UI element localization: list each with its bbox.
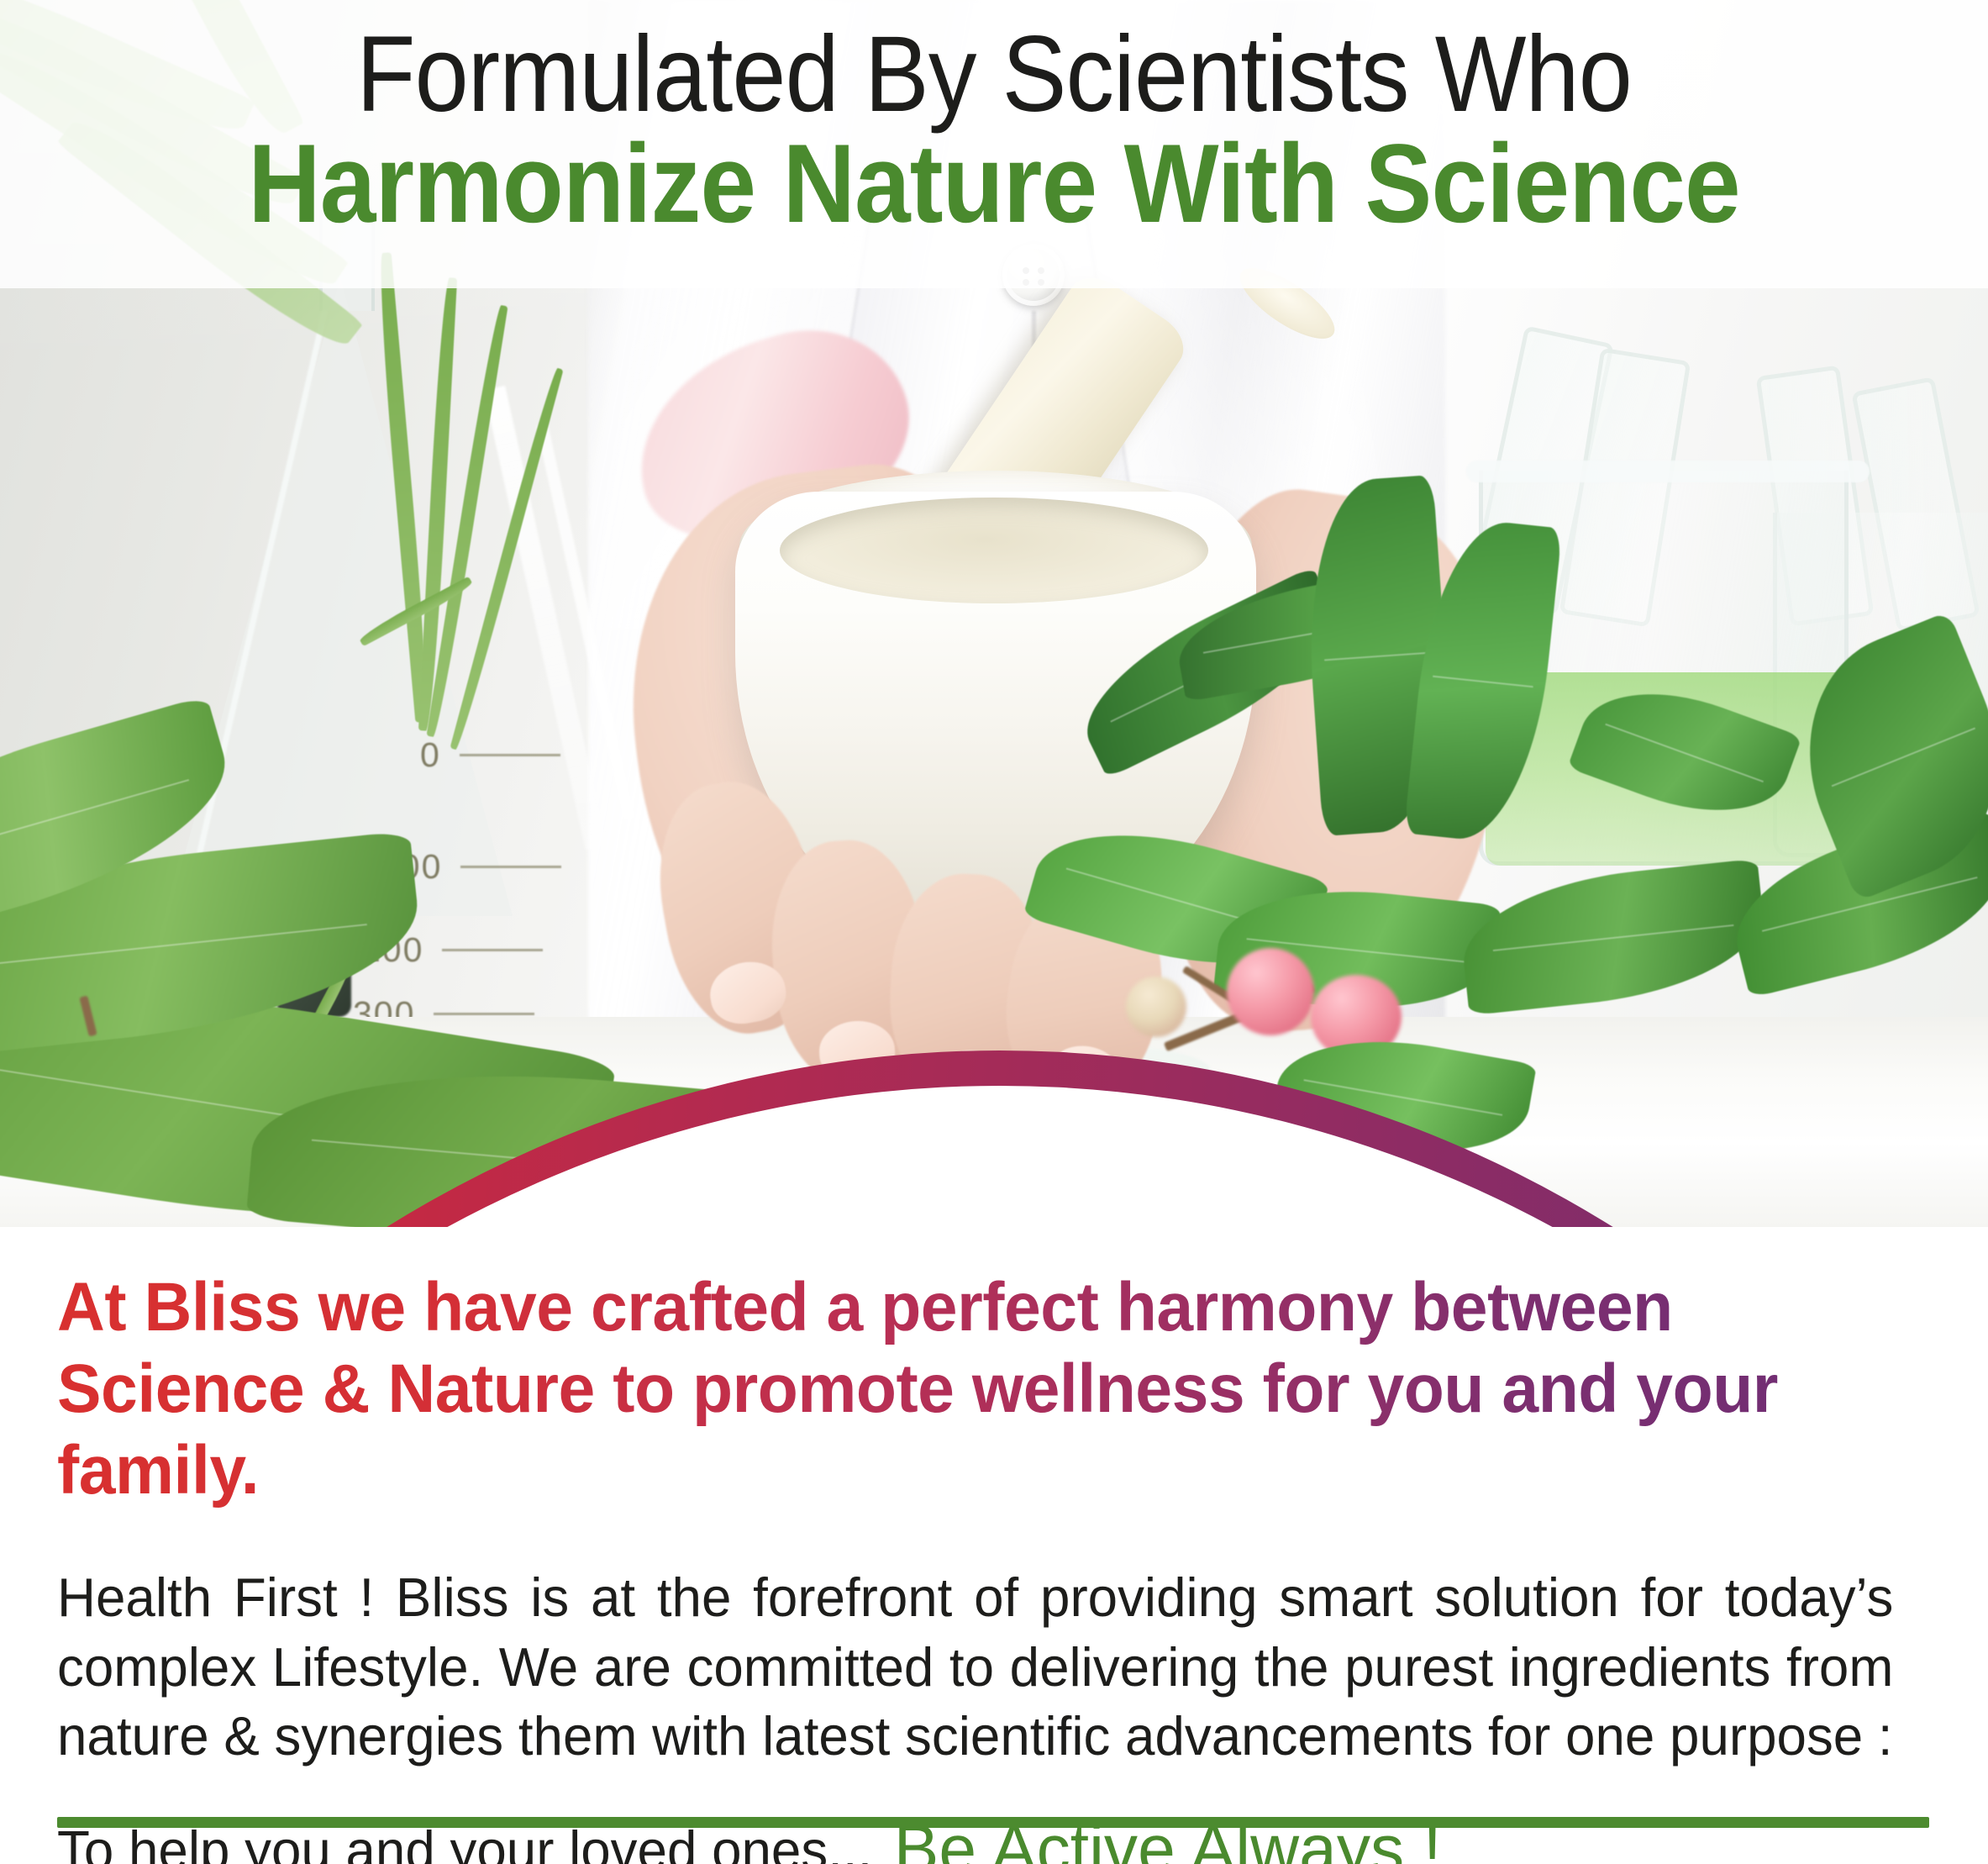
flask-graduation-0-label: 0 xyxy=(420,735,441,774)
berry xyxy=(1126,977,1186,1037)
content-headline: At Bliss we have crafted a perfect harmo… xyxy=(57,1267,1856,1511)
bottom-divider-rule xyxy=(57,1817,1929,1828)
content-paragraph: Health First ! Bliss is at the forefront… xyxy=(57,1563,1893,1772)
flask-tick-icon xyxy=(460,754,560,756)
berry xyxy=(1227,948,1314,1035)
page-root: 0 100 200 300 xyxy=(0,0,1988,1864)
content-section: At Bliss we have crafted a perfect harmo… xyxy=(0,1261,1988,1864)
flask-tick-icon xyxy=(460,866,561,868)
flask-tick-icon xyxy=(434,1013,534,1015)
header-title-line1: Formulated By Scientists Who xyxy=(99,18,1888,131)
mortar-interior xyxy=(780,498,1208,603)
header-title-line2: Harmonize Nature With Science xyxy=(99,126,1888,244)
beaker-lip xyxy=(1466,461,1870,482)
flask-graduation-0: 0 xyxy=(420,735,560,775)
flask-tick-icon xyxy=(442,949,543,951)
header-banner: Formulated By Scientists Who Harmonize N… xyxy=(0,0,1988,288)
